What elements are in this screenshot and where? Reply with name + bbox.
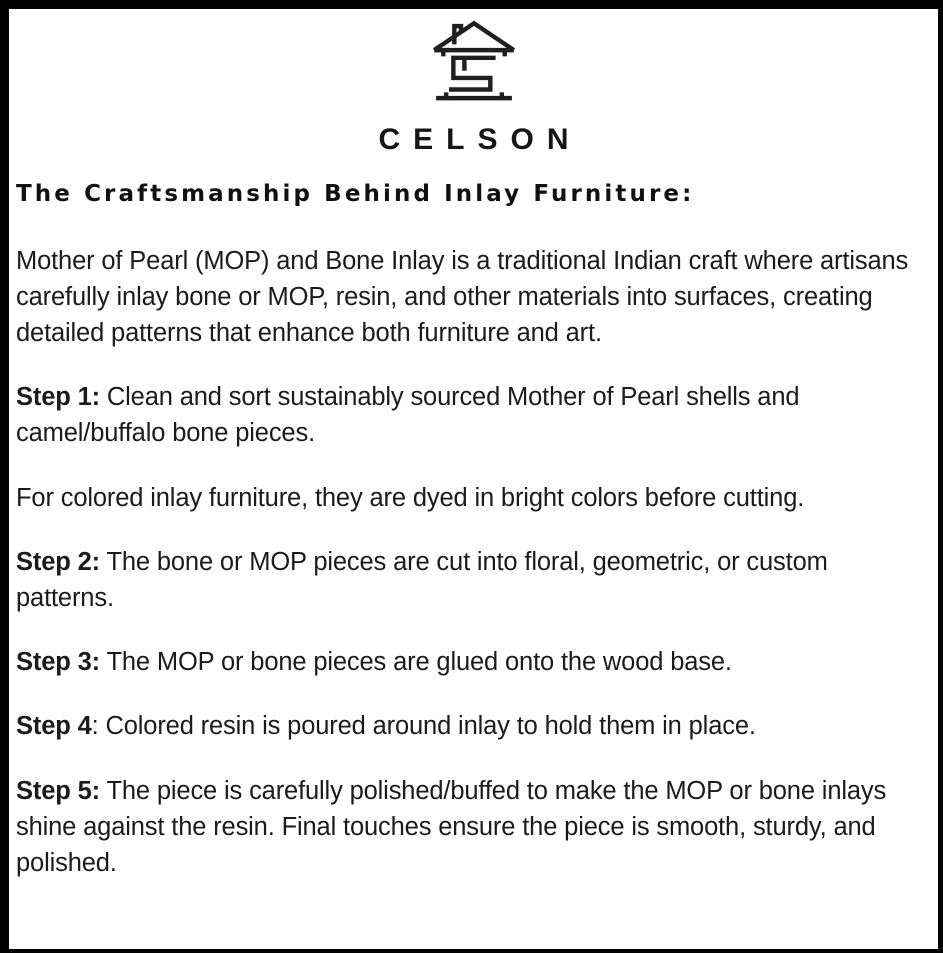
step-label-1: Step 1: (16, 383, 100, 411)
document-body: The Craftsmanship Behind Inlay Furniture… (9, 181, 938, 881)
step-paragraph-1: Step 1: Clean and sort sustainably sourc… (16, 379, 924, 451)
step-paragraph-3: Step 3: The MOP or bone pieces are glued… (16, 644, 924, 680)
step-separator-4: : (92, 712, 99, 740)
step-text-5: The piece is carefully polished/buffed t… (16, 777, 886, 877)
brand-wordmark: CELSON (9, 125, 938, 155)
step-label-2: Step 2: (16, 548, 100, 576)
step-text-2: The bone or MOP pieces are cut into flor… (16, 548, 828, 612)
intro-paragraph: Mother of Pearl (MOP) and Bone Inlay is … (16, 243, 924, 352)
poster-page: CELSON The Craftsmanship Behind Inlay Fu… (0, 0, 943, 953)
step-label-4: Step 4 (16, 712, 92, 740)
step-paragraph-2: Step 2: The bone or MOP pieces are cut i… (16, 544, 924, 616)
house-monogram-icon (426, 17, 522, 113)
brand-header: CELSON (9, 9, 938, 155)
step-text-1: Clean and sort sustainably sourced Mothe… (16, 383, 799, 447)
page-title: The Craftsmanship Behind Inlay Furniture… (16, 181, 924, 209)
step-label-3: Step 3: (16, 648, 100, 676)
step-paragraph-4: Step 4: Colored resin is poured around i… (16, 708, 924, 744)
step-paragraph-5: Step 5: The piece is carefully polished/… (16, 773, 924, 882)
step-label-5: Step 5: (16, 777, 100, 805)
step-text-4: Colored resin is poured around inlay to … (99, 712, 756, 740)
step-text-3: The MOP or bone pieces are glued onto th… (100, 648, 732, 676)
note-paragraph: For colored inlay furniture, they are dy… (16, 480, 924, 516)
